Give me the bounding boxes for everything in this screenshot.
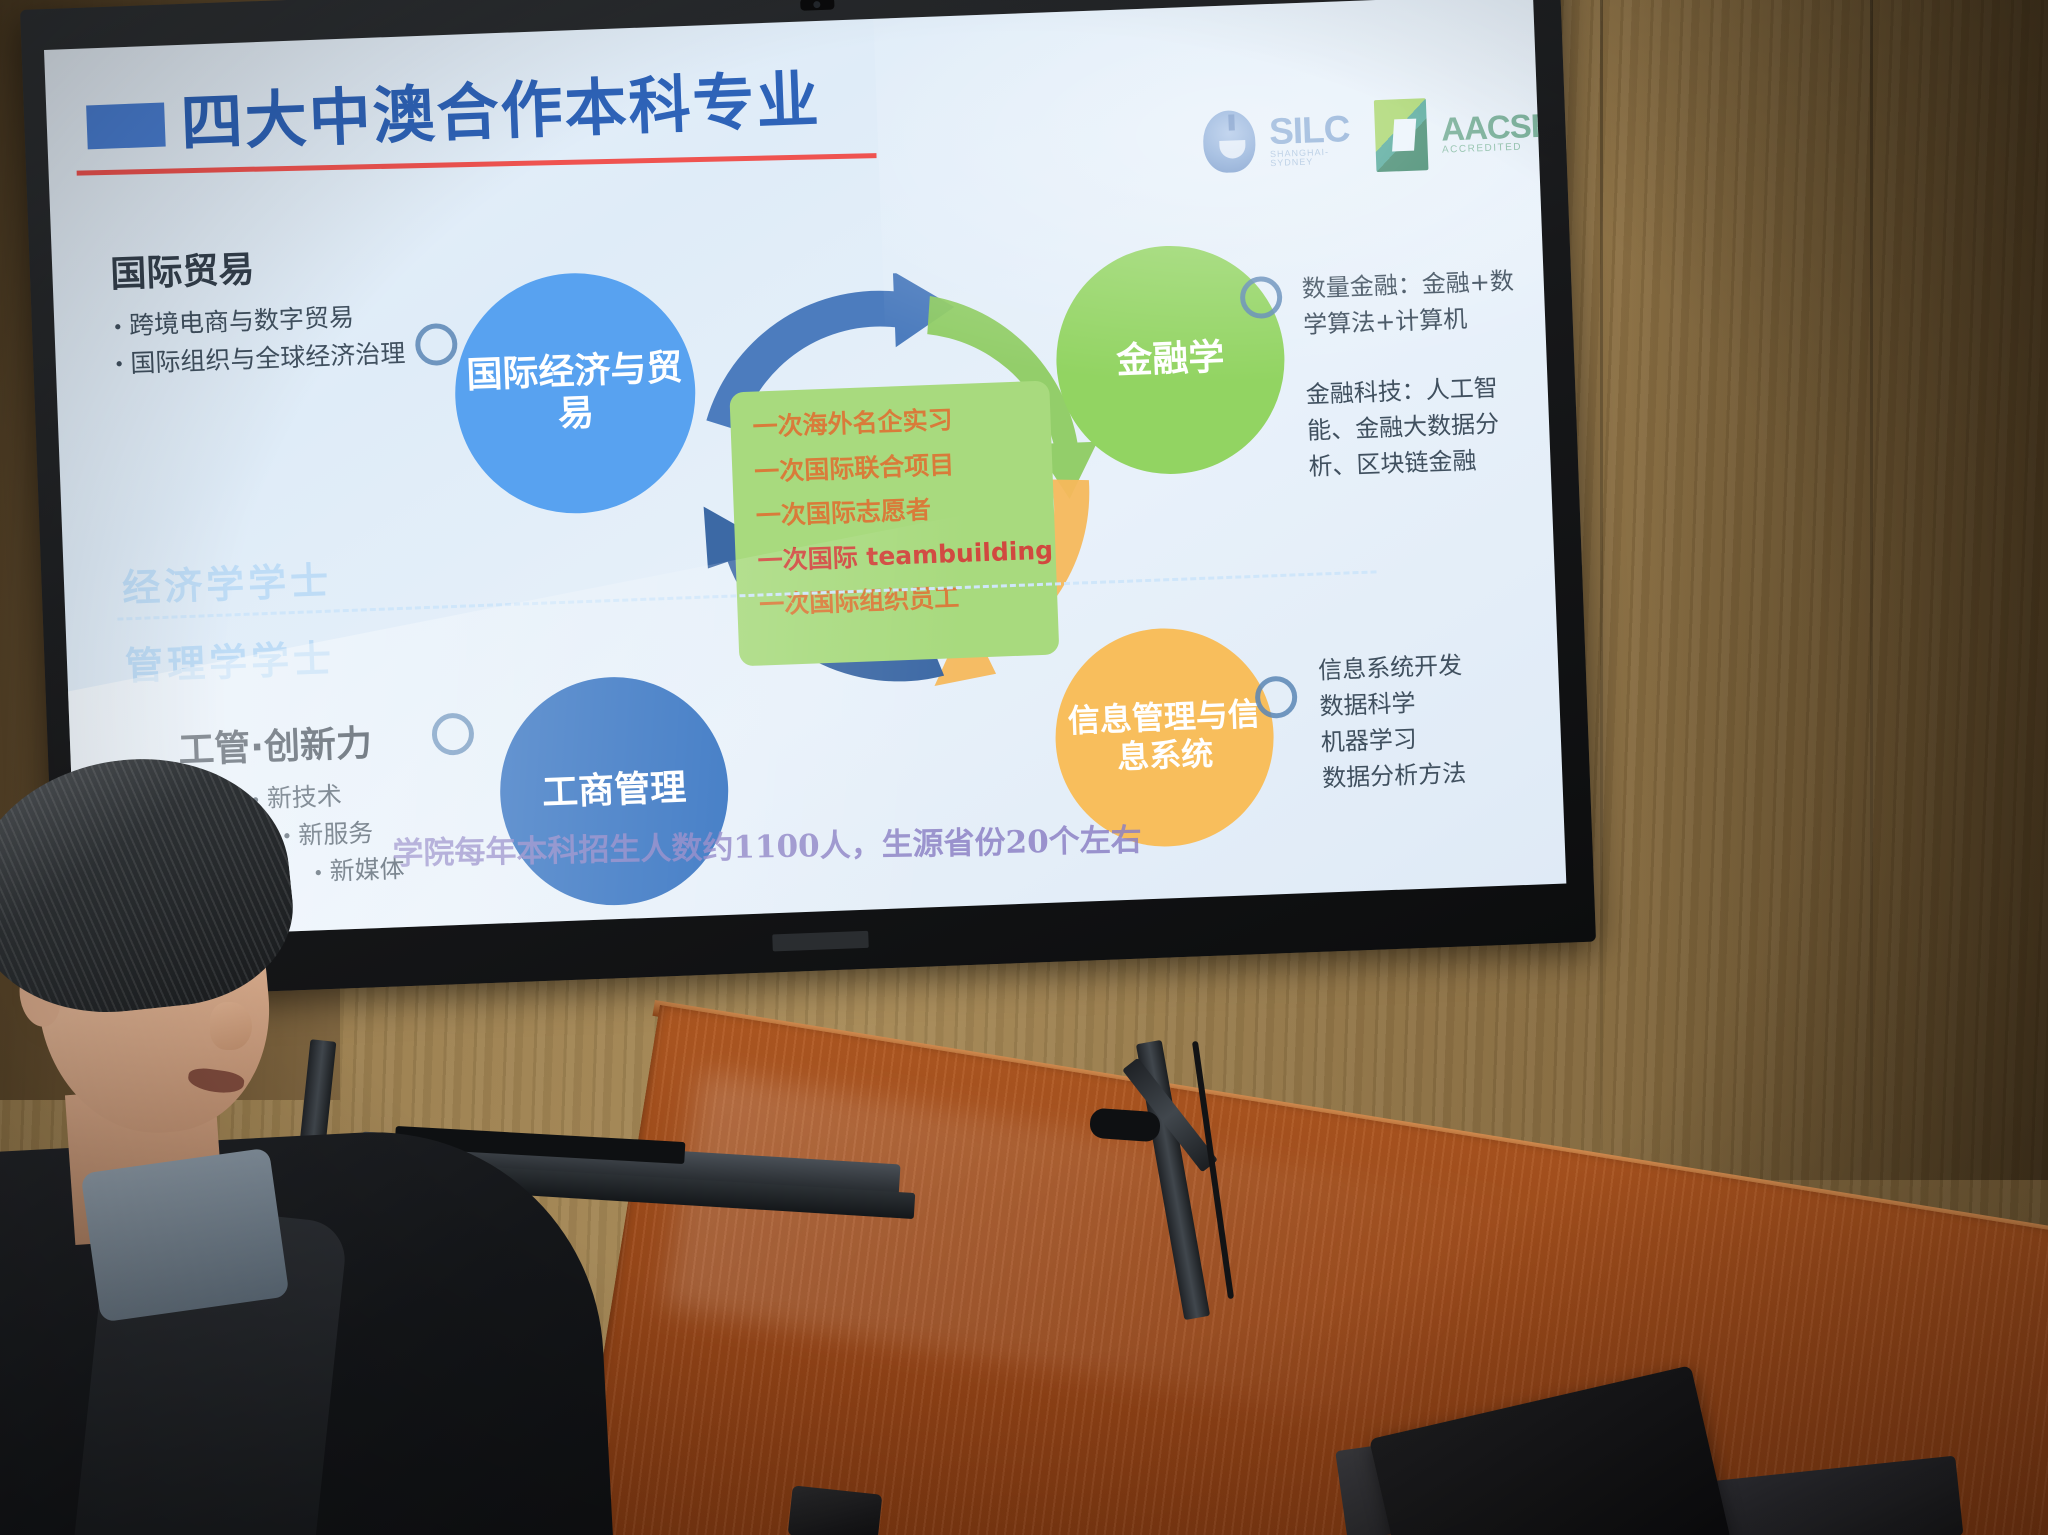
center-activity-item: 一次国际组织员工 bbox=[759, 573, 1048, 628]
silc-logo-text: SILC bbox=[1268, 109, 1361, 149]
title-accent-block bbox=[86, 103, 166, 150]
slide-title-row: 四大中澳合作本科专业 bbox=[86, 69, 822, 158]
left-top-heading: 国际贸易 bbox=[109, 234, 411, 297]
bullet-dot-icon: • bbox=[112, 317, 123, 338]
center-activity-list: 一次海外名企实习一次国际联合项目一次国际志愿者一次国际 teambuilding… bbox=[729, 381, 1059, 667]
accreditation-logos: SILC SHANGHAI-SYDNEY AACSB ACCREDITED bbox=[1202, 93, 1555, 178]
connector-ring-icon bbox=[1254, 675, 1298, 719]
nose bbox=[210, 1002, 252, 1050]
aacsb-logo-subtext: ACCREDITED bbox=[1442, 141, 1555, 155]
wall-shadow-right bbox=[1628, 0, 2048, 1180]
page-title: 四大中澳合作本科专业 bbox=[180, 69, 822, 155]
university-crest-icon bbox=[1202, 110, 1257, 174]
shelf-mouse[interactable] bbox=[1089, 1108, 1161, 1143]
degree-label-management: 管理学学士 bbox=[124, 628, 336, 691]
left-top-text-block: 国际贸易 •跨境电商与数字贸易 •国际组织与全球经济治理 bbox=[109, 234, 414, 382]
connector-ring-icon bbox=[1239, 276, 1283, 320]
degree-label-economics: 经济学学士 bbox=[121, 550, 333, 613]
aacsb-logo-text: AACSB bbox=[1441, 108, 1555, 145]
right-bottom-text-block: 信息系统开发 数据科学 机器学习 数据分析方法 bbox=[1318, 642, 1567, 796]
wall-seam bbox=[1600, 0, 1603, 1150]
presenter-person bbox=[0, 740, 860, 1535]
silc-logo-subtext: SHANGHAI-SYDNEY bbox=[1270, 146, 1362, 167]
inner-collar bbox=[80, 1148, 289, 1323]
right-top-text-block: 数量金融：金融+数 学算法+计算机 金融科技：人工智 能、金融大数据分 析、区块… bbox=[1301, 260, 1566, 484]
connector-ring-icon bbox=[415, 323, 459, 367]
wall-seam bbox=[1870, 0, 1873, 1150]
bullet-dot-icon: • bbox=[113, 354, 124, 375]
aacsb-mark-icon bbox=[1374, 98, 1429, 172]
